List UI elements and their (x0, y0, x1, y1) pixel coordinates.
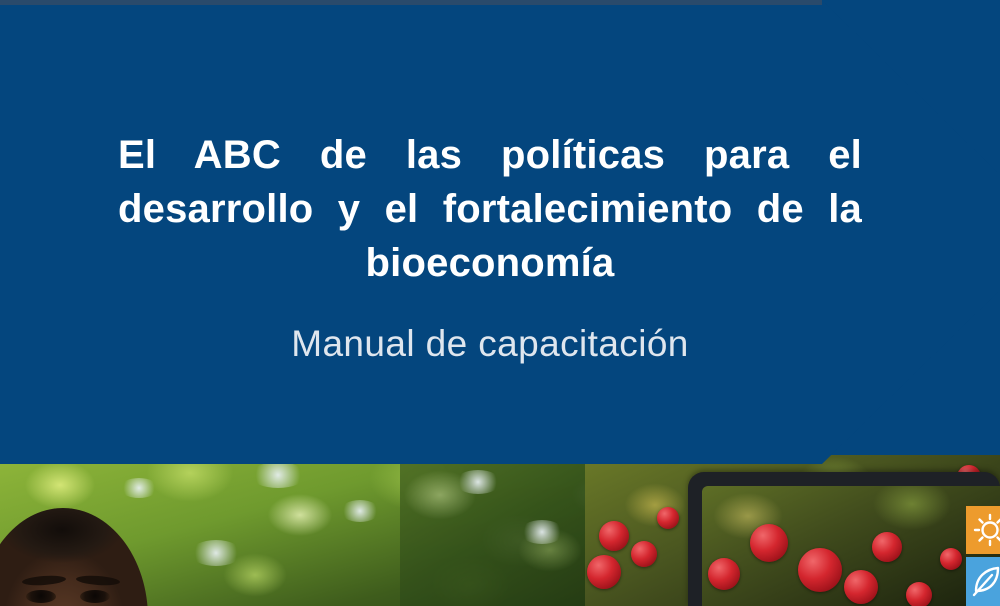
canopy-sky-gap (120, 478, 158, 498)
apple (844, 570, 878, 604)
tablet-screen (702, 486, 1000, 606)
canopy-sky-gap (455, 470, 501, 494)
cover-page: El ABC de las políticas para el desarrol… (0, 0, 1000, 606)
canopy-sky-gap (520, 520, 564, 544)
top-edge-strip (0, 0, 822, 5)
leaf-icon (966, 557, 1000, 606)
person-eye-right (80, 590, 110, 603)
apple (906, 582, 932, 606)
apple (587, 555, 621, 589)
blue-icon-tile[interactable] (966, 557, 1000, 606)
apple (599, 521, 629, 551)
apple (798, 548, 842, 592)
canopy-sky-gap (190, 540, 242, 566)
apple (750, 524, 788, 562)
apple (940, 548, 962, 570)
canopy-sky-gap (250, 462, 306, 488)
tablet-device (688, 472, 1000, 606)
page-subtitle: Manual de capacitación (0, 322, 980, 366)
sun-icon-tile[interactable] (966, 506, 1000, 554)
apple (631, 541, 657, 567)
title-banner: El ABC de las políticas para el desarrol… (0, 0, 1000, 464)
page-title: El ABC de las políticas para el desarrol… (118, 128, 862, 290)
apple (872, 532, 902, 562)
apple (708, 558, 740, 590)
apple (657, 507, 679, 529)
canopy-sky-gap (340, 500, 380, 522)
sun-icon (966, 506, 1000, 554)
person-eye-left (26, 590, 56, 603)
